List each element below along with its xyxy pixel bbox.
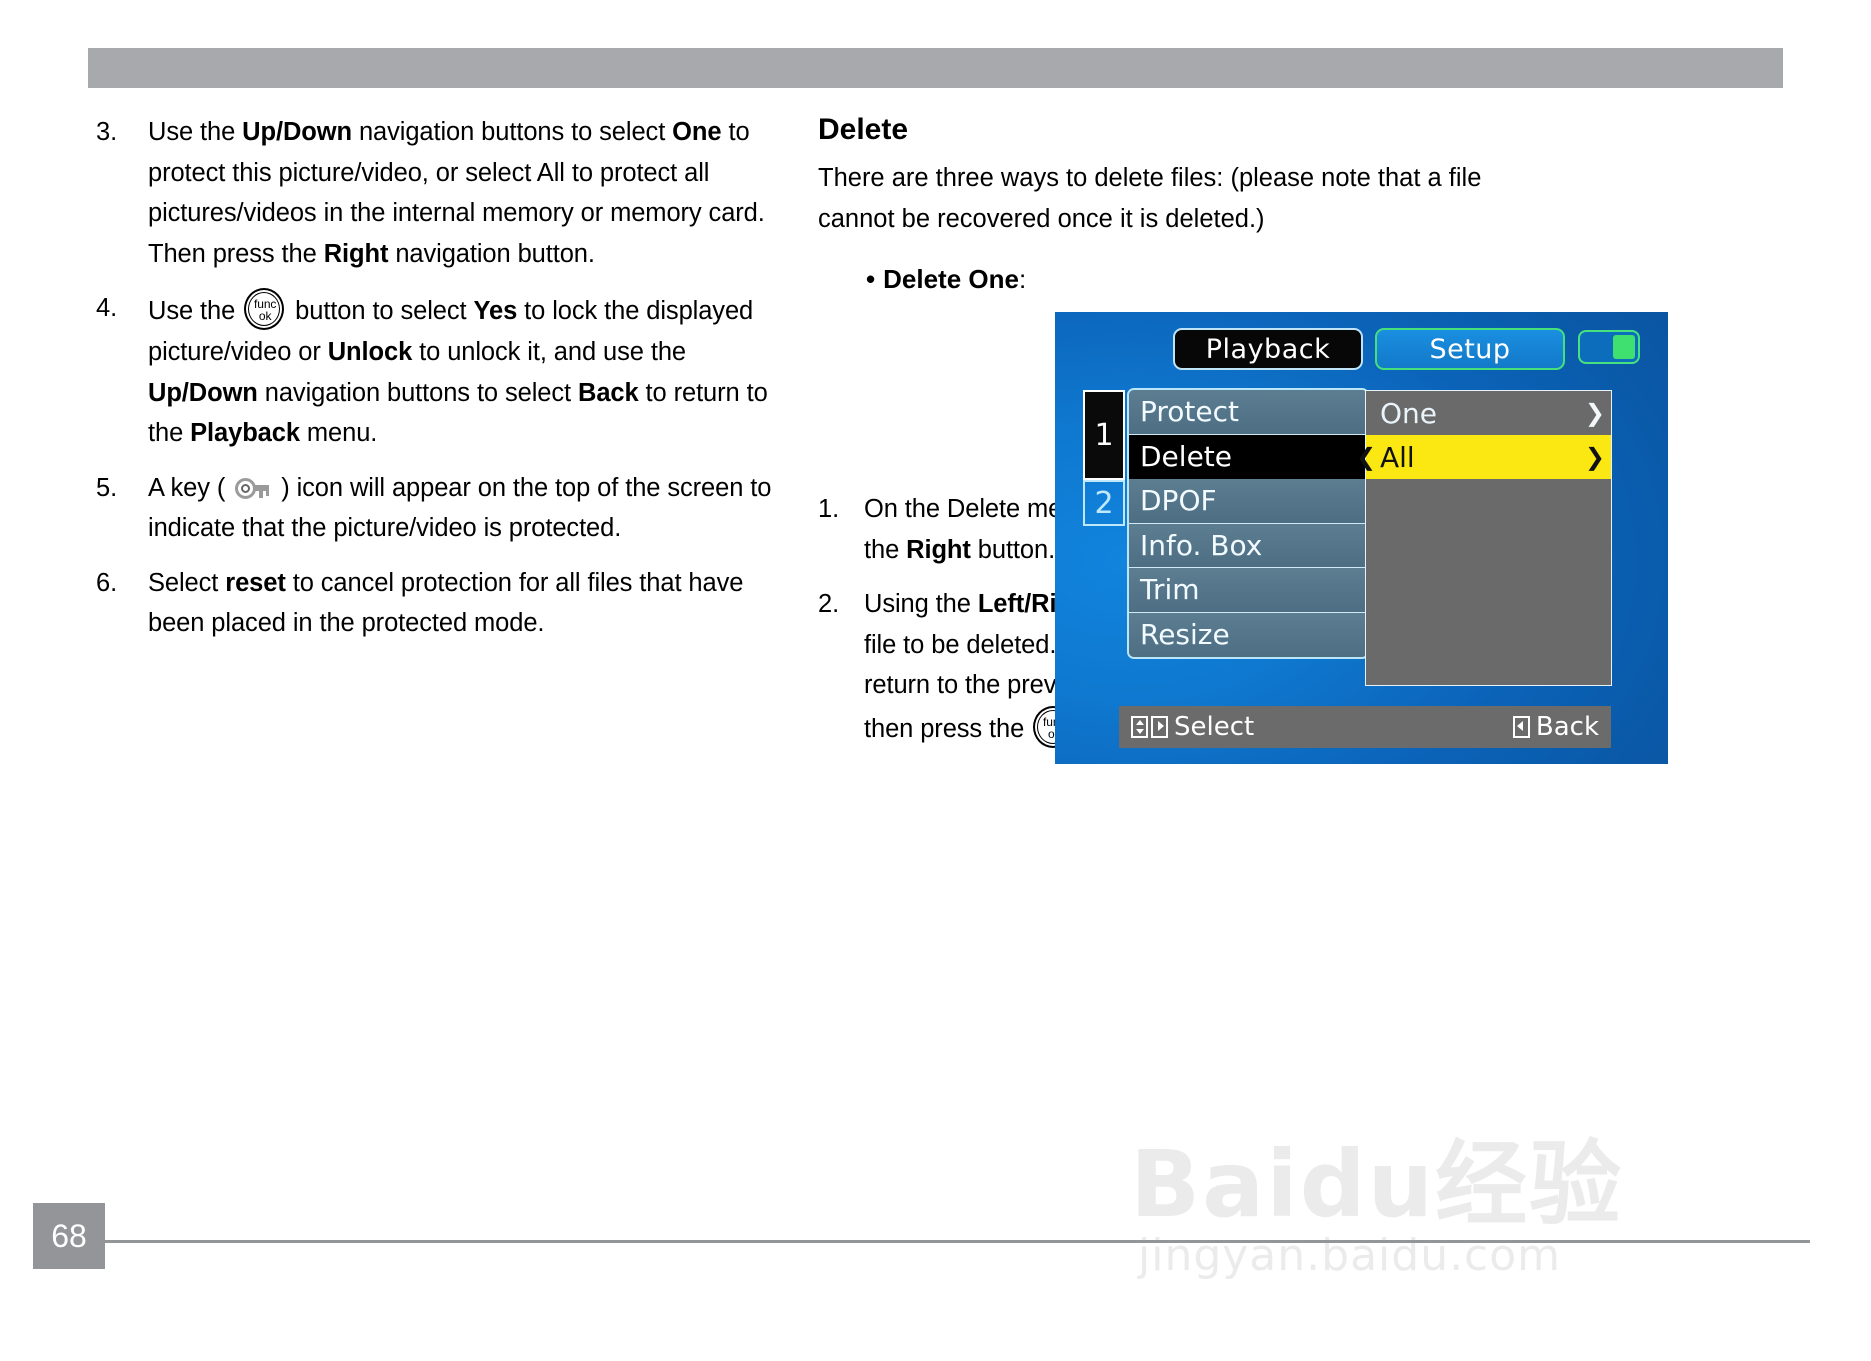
step-number: 2. [818, 584, 852, 625]
watermark-main-text: Baidu经验 [1130, 1110, 1623, 1243]
step-item: 5.A key ( ) icon will appear on the top … [96, 468, 796, 549]
lcd-option-all[interactable]: ❮All❯ [1366, 435, 1611, 479]
intro-paragraph: There are three ways to delete files: (p… [818, 158, 1518, 239]
lcd-menu-item-info-box[interactable]: Info. Box [1129, 524, 1367, 569]
footer-rule [105, 1240, 1810, 1243]
lcd-option-one[interactable]: One❯ [1366, 391, 1611, 435]
lcd-menu-item-label: Protect [1140, 395, 1239, 428]
delete-one-bullet: •Delete One: [818, 259, 1518, 299]
step-number: 4. [96, 288, 136, 329]
battery-icon [1578, 330, 1640, 364]
lcd-menu-item-trim[interactable]: Trim [1129, 568, 1367, 613]
hint-select: Select [1131, 712, 1254, 742]
right-nav-icon [1151, 716, 1168, 738]
chevron-right-icon: ❯ [1585, 445, 1605, 469]
battery-fill [1613, 335, 1635, 359]
lcd-menu-item-label: Trim [1140, 573, 1200, 606]
step-number: 3. [96, 112, 136, 153]
bullet-dot-icon: • [866, 264, 875, 294]
baidu-watermark: Baidu经验 jingyan.baidu.com [1090, 1090, 1790, 1320]
tab-playback[interactable]: Playback [1173, 328, 1363, 370]
step-text: to unlock it, and use the [412, 338, 686, 366]
step-text: Using the [864, 590, 978, 618]
step-item: 4.Use the funcok button to select Yes to… [96, 288, 796, 454]
document-page: 3.Use the Up/Down navigation buttons to … [0, 0, 1871, 1361]
step-number: 1. [818, 489, 852, 530]
lcd-page-chip-1[interactable]: 1 [1083, 390, 1125, 480]
lcd-menu-item-dpof[interactable]: DPOF [1129, 479, 1367, 524]
step-text: navigation button. [388, 240, 595, 268]
chevron-right-icon: ❯ [1585, 401, 1605, 425]
left-nav-icon [1513, 716, 1530, 738]
step-text-emphasis: Unlock [328, 338, 412, 366]
section-heading-delete: Delete [818, 112, 1518, 148]
step-text-emphasis: Playback [190, 419, 300, 447]
step-text: A key ( [148, 474, 232, 502]
step-text: Select [148, 569, 225, 597]
step-text: button to select [288, 297, 473, 325]
step-text: navigation buttons to select [352, 118, 672, 146]
tab-setup[interactable]: Setup [1375, 328, 1565, 370]
page-number: 68 [33, 1203, 105, 1269]
step-number: 6. [96, 563, 136, 604]
step-number: 5. [96, 468, 136, 509]
step-text: Use the [148, 118, 242, 146]
step-text-emphasis: One [672, 118, 721, 146]
hint-back-label: Back [1536, 712, 1599, 742]
lcd-menu-item-delete[interactable]: Delete [1129, 435, 1367, 480]
lcd-option-label: All [1380, 441, 1415, 474]
left-text-column: 3.Use the Up/Down navigation buttons to … [96, 112, 796, 658]
lcd-menu-item-protect[interactable]: Protect [1129, 390, 1367, 435]
step-text-emphasis: Back [578, 379, 639, 407]
step-text: navigation buttons to select [258, 379, 578, 407]
lcd-top-bar: Playback Setup [1055, 312, 1668, 376]
key-protect-icon [235, 476, 271, 502]
delete-one-colon: : [1019, 264, 1026, 294]
camera-lcd-figure: Playback Setup 1 2 ProtectDeleteDPOFInfo… [1055, 312, 1668, 764]
step-text: menu. [300, 419, 377, 447]
lcd-menu-item-resize[interactable]: Resize [1129, 613, 1367, 658]
up-down-nav-icon [1131, 716, 1148, 738]
step-text-emphasis: Right [324, 240, 389, 268]
lcd-menu-list: ProtectDeleteDPOFInfo. BoxTrimResize [1127, 388, 1369, 659]
lcd-menu-item-label: Delete [1140, 440, 1232, 473]
step-item: 3.Use the Up/Down navigation buttons to … [96, 112, 796, 274]
step-text-emphasis: Right [906, 536, 971, 564]
lcd-option-label: One [1380, 397, 1437, 430]
lcd-menu-item-label: DPOF [1140, 484, 1217, 517]
step-text: button. [971, 536, 1055, 564]
chevron-left-icon: ❮ [1356, 445, 1376, 469]
lcd-menu-item-label: Info. Box [1140, 529, 1262, 562]
left-step-list: 3.Use the Up/Down navigation buttons to … [96, 112, 796, 644]
step-item: 6.Select reset to cancel protection for … [96, 563, 796, 644]
func-ok-button-icon: funcok [244, 288, 286, 332]
lcd-hint-bar: Select Back [1119, 706, 1611, 748]
hint-select-label: Select [1174, 712, 1254, 742]
lcd-option-panel: One❯❮All❯ [1365, 390, 1612, 686]
step-text-emphasis: reset [225, 569, 285, 597]
step-text-emphasis: Up/Down [148, 379, 258, 407]
watermark-sub-text: jingyan.baidu.com [1138, 1230, 1561, 1281]
step-text-emphasis: Up/Down [242, 118, 352, 146]
lcd-page-chip-2[interactable]: 2 [1083, 480, 1125, 526]
step-text: Use the [148, 297, 242, 325]
lcd-menu-item-label: Resize [1140, 618, 1230, 651]
hint-back: Back [1513, 712, 1599, 742]
step-text-emphasis: Yes [474, 297, 518, 325]
delete-one-label: Delete One [883, 264, 1019, 294]
header-band [88, 48, 1783, 88]
